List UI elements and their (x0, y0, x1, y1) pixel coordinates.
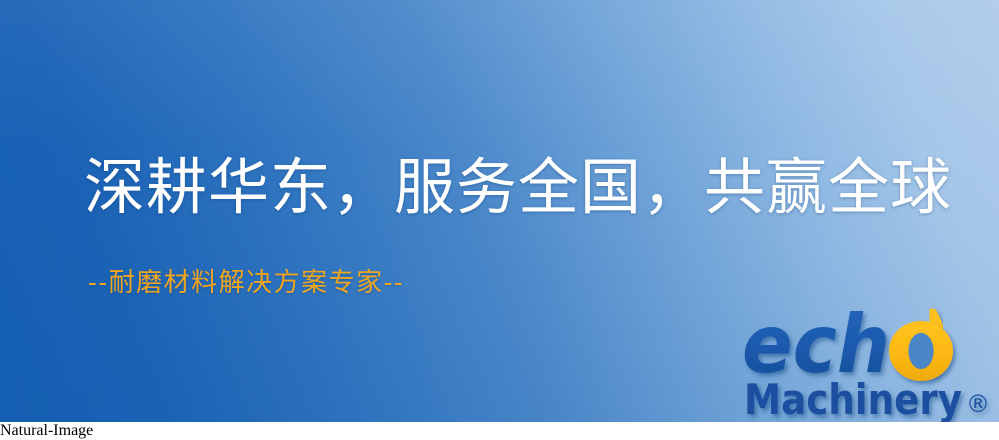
hero-banner: 深耕华东，服务全国，共赢全球 --耐磨材料解决方案专家-- (0, 0, 999, 422)
echo-machinery-logo[interactable]: ech Machinery ® (742, 296, 999, 422)
banner-headline: 深耕华东，服务全国，共赢全球 (84, 152, 952, 224)
banner-subtitle: --耐磨材料解决方案专家-- (88, 266, 404, 300)
svg-text:®: ® (966, 390, 990, 418)
logo-wordmark-o-accent (889, 321, 953, 381)
svg-text:Machinery: Machinery (744, 375, 962, 422)
logo-tagline: Machinery ® (744, 375, 990, 422)
